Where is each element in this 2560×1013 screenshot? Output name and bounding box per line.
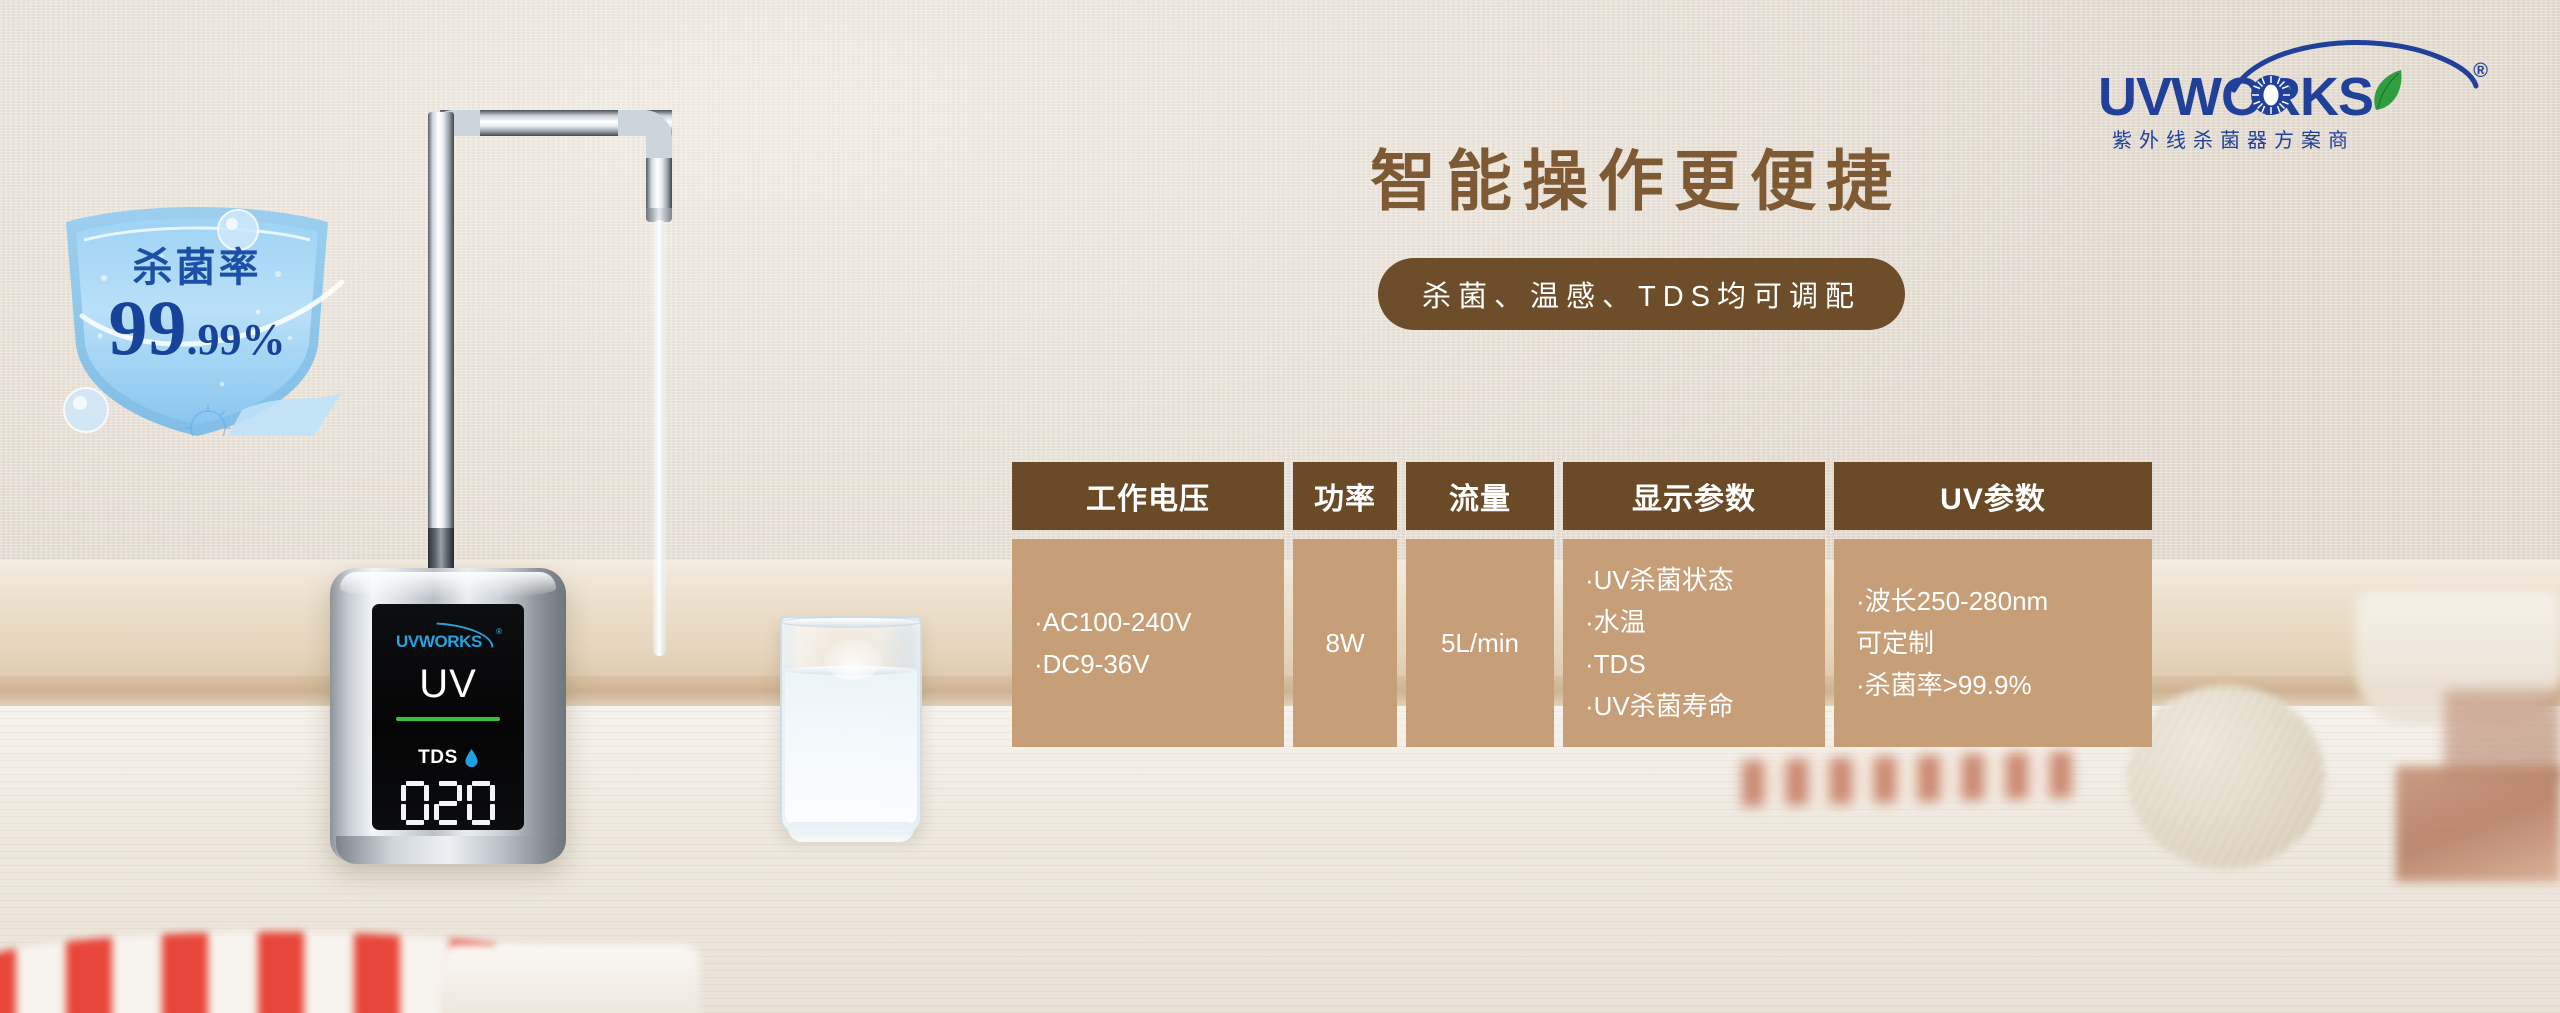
spec-line: ·波长250-280nm [1856,580,2048,622]
spec-line: 8W [1326,622,1365,664]
spec-line: ·DC9-36V [1034,643,1150,685]
specification-table: 工作电压·AC100-240V·DC9-36V功率8W流量5L/min显示参数·… [1012,462,2152,747]
logo-wordmark: UVWORKS [2098,66,2373,128]
device-tds-row: TDS [418,747,478,769]
spec-line: ·UV杀菌寿命 [1585,685,1734,727]
uv-sterilizer-device: UVWORKS ® UV TDS [330,568,566,868]
spec-line: 5L/min [1441,622,1519,664]
device-logo-registered: ® [496,627,502,636]
device-tds-value [401,781,495,825]
brand-logo[interactable]: UVWORKS ® 紫外线杀菌器方案商 [2098,36,2488,144]
device-top-highlight [340,572,556,598]
seven-segment-digit [401,781,429,825]
water-stream [653,220,666,656]
spec-column-body: 8W [1293,539,1397,747]
spec-line: 可定制 [1856,622,1934,664]
spec-column: 流量5L/min [1406,462,1554,747]
plate-prop [440,944,700,1013]
subtitle-text: 杀菌、温感、TDS均可调配 [1422,273,1861,315]
device-screen-logo: UVWORKS ® [392,626,504,652]
spec-column-body: 5L/min [1406,539,1554,747]
spec-column-body: ·UV杀菌状态·水温·TDS·UV杀菌寿命 [1563,539,1825,747]
device-tds-label: TDS [418,747,458,769]
spec-column-header: 功率 [1293,462,1397,530]
spec-column: 显示参数·UV杀菌状态·水温·TDS·UV杀菌寿命 [1563,462,1825,747]
water-glass [780,616,922,842]
device-mode-label: UV [419,664,477,704]
page-title: 智能操作更便捷 [1370,128,1902,224]
spec-column-header: UV参数 [1834,462,2152,530]
shield-icon [42,196,352,436]
device-logo-arc-icon [435,622,494,647]
spec-line: ·AC100-240V [1034,601,1192,643]
spec-column-body: ·波长250-280nm可定制·杀菌率>99.9% [1834,539,2152,747]
sterilization-rate-badge: 杀菌率 99 .99% [42,196,352,436]
seven-segment-digit [467,781,495,825]
chrome-faucet [404,48,694,608]
checkered-mat-prop [1742,751,2072,806]
device-status-bar [396,717,500,721]
spec-column-body: ·AC100-240V·DC9-36V [1012,539,1284,747]
spec-column-header: 工作电压 [1012,462,1284,530]
device-base [336,836,560,864]
starburst-icon [2250,74,2292,116]
spec-line: ·TDS [1585,643,1646,685]
faucet-spout [646,158,672,214]
spec-column: UV参数·波长250-280nm可定制·杀菌率>99.9% [1834,462,2152,747]
registered-mark: ® [2473,60,2488,83]
spec-column-header: 显示参数 [1563,462,1825,530]
device-display-screen[interactable]: UVWORKS ® UV TDS [372,604,524,830]
spec-line: ·杀菌率>99.9% [1856,664,2032,706]
banner-stage: 杀菌率 99 .99% UVWORKS ® UV [0,0,2560,1013]
water-drop-icon [465,749,478,767]
subtitle-badge: 杀菌、温感、TDS均可调配 [1378,258,1905,330]
brand-tagline: 紫外线杀菌器方案商 [2112,124,2355,153]
spec-line: ·水温 [1585,601,1646,643]
spec-column-header: 流量 [1406,462,1554,530]
leaf-icon [2370,68,2406,114]
spec-column: 工作电压·AC100-240V·DC9-36V [1012,462,1284,747]
yarn-strands-prop [2128,686,2324,868]
glass-water [785,670,917,826]
spec-line: ·UV杀菌状态 [1585,559,1734,601]
seven-segment-digit [434,781,462,825]
glass-bottom [788,822,914,842]
water-splash [824,640,882,680]
glass-rim [780,616,922,628]
spec-column: 功率8W [1293,462,1397,747]
wooden-box-prop [2396,766,2560,882]
